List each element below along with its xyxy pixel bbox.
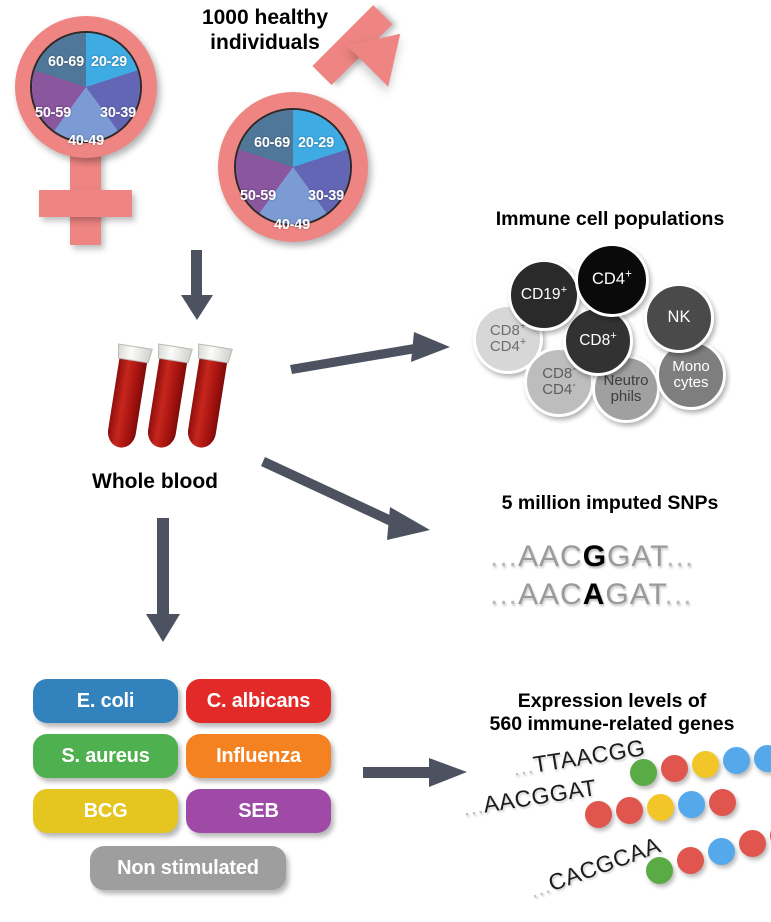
- snp-right-bases: GAT: [605, 578, 664, 611]
- snp-left-bases: AAC: [518, 578, 583, 611]
- immune-cell-label: Monocytes: [672, 359, 710, 391]
- expression-bead: [585, 801, 612, 828]
- expression-bead: [754, 745, 771, 772]
- arrow-blood-to-snps: [265, 452, 455, 552]
- strand-sequence-text: ...TTAACGG: [511, 734, 647, 782]
- snp-variant-base: G: [583, 540, 607, 573]
- snps-title: 5 million imputed SNPs: [460, 492, 760, 515]
- expression-title: Expression levels of 560 immune-related …: [453, 690, 771, 736]
- immune-cell-label: CD19+: [521, 287, 567, 303]
- stimulation-block-e-coli[interactable]: E. coli: [33, 679, 178, 723]
- female-pie-label-20-29: 20-29: [91, 54, 127, 70]
- immune-cell-cd4plus: CD4+: [575, 243, 649, 317]
- expression-bead: [661, 755, 688, 782]
- strand-sequence-text: ...CACGCAA: [525, 832, 664, 905]
- snp-suffix: ...: [665, 578, 693, 611]
- expression-bead: [646, 857, 673, 884]
- male-gender-symbol: 20-29 30-39 40-49 50-59 60-69: [210, 30, 420, 245]
- snp-sequence-row-1: ...AACGGAT...: [490, 540, 694, 574]
- snp-prefix: ...: [490, 540, 518, 573]
- strand-bases: CACGCAA: [545, 832, 664, 897]
- male-pie-label-50-59: 50-59: [240, 188, 276, 204]
- expression-bead: [723, 747, 750, 774]
- snp-suffix: ...: [666, 540, 694, 573]
- snp-sequence-row-2: ...AACAGAT...: [490, 578, 693, 612]
- snp-prefix: ...: [490, 578, 518, 611]
- stimulation-block-non-stimulated[interactable]: Non stimulated: [90, 846, 286, 890]
- blood-tubes-illustration: [105, 340, 235, 465]
- expression-strand-3: ...CACGCAA: [530, 840, 771, 900]
- stimulation-block-influenza[interactable]: Influenza: [186, 734, 331, 778]
- pie-segment-60-69: [32, 33, 140, 141]
- arrow-stimulations-to-expression: [363, 752, 473, 792]
- male-pie-label-30-39: 30-39: [308, 188, 344, 204]
- pie-segment-60-69: [236, 110, 350, 224]
- snp-right-bases: GAT: [607, 540, 666, 573]
- snp-variant-base: A: [583, 578, 606, 611]
- expression-bead: [616, 797, 643, 824]
- immune-cells-title: Immune cell populations: [455, 208, 765, 231]
- expression-bead: [678, 791, 705, 818]
- female-pie-label-50-59: 50-59: [35, 105, 71, 121]
- experimental-design-figure: 20-29 30-39 40-49 50-59 60-69 20-29 30-3…: [0, 0, 771, 922]
- expression-bead: [630, 759, 657, 786]
- expression-bead: [708, 838, 735, 865]
- female-pie-label-30-39: 30-39: [100, 105, 136, 121]
- male-age-pie-chart: [234, 108, 352, 226]
- whole-blood-label: Whole blood: [55, 470, 255, 495]
- immune-cell-label: NK: [668, 309, 691, 326]
- immune-cell-cd8plus: CD8+: [563, 306, 633, 376]
- arrow-cohort-to-blood: [172, 250, 222, 322]
- expression-bead: [692, 751, 719, 778]
- immune-cell-label: CD8+CD4+: [490, 323, 526, 355]
- female-pie-label-40-49: 40-49: [68, 133, 104, 149]
- immune-cell-label: Neutrophils: [603, 373, 648, 405]
- expression-bead: [709, 789, 736, 816]
- expression-bead: [647, 794, 674, 821]
- immune-cell-cd19plus: CD19+: [508, 259, 580, 331]
- snp-left-bases: AAC: [518, 540, 583, 573]
- stimulation-block-s-aureus[interactable]: S. aureus: [33, 734, 178, 778]
- expression-bead: [677, 847, 704, 874]
- immune-cell-label: CD8-CD4-: [542, 366, 576, 398]
- stimulation-block-bcg[interactable]: BCG: [33, 789, 178, 833]
- immune-cell-label: CD4+: [592, 271, 632, 288]
- expression-bead: [739, 830, 766, 857]
- stimulation-block-seb[interactable]: SEB: [186, 789, 331, 833]
- immune-cell-label: CD8+: [579, 333, 617, 349]
- male-pie-label-40-49: 40-49: [274, 217, 310, 233]
- female-age-pie-chart: [30, 31, 142, 143]
- cohort-title: 1000 healthy individuals: [160, 6, 370, 56]
- arrow-blood-to-immune-cells: [290, 330, 460, 380]
- male-pie-label-20-29: 20-29: [298, 135, 334, 151]
- expression-strand-2: ...AACGGAT: [463, 785, 771, 833]
- immune-cell-nk: NK: [644, 283, 714, 353]
- female-pie-label-60-69: 60-69: [48, 54, 84, 70]
- male-pie-label-60-69: 60-69: [254, 135, 290, 151]
- female-symbol-crossbar: [39, 190, 132, 217]
- arrow-blood-to-stimulations: [140, 518, 190, 644]
- stimulation-block-c-albicans[interactable]: C. albicans: [186, 679, 331, 723]
